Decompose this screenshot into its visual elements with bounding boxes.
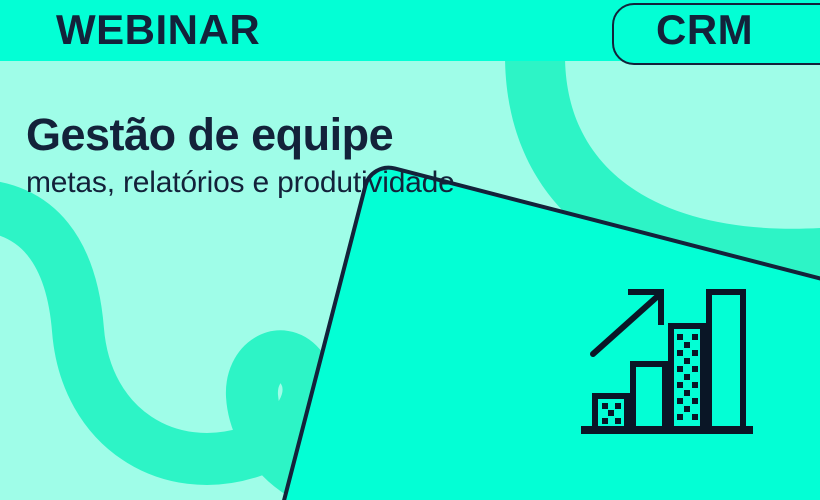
webinar-banner: WEBINAR CRM Gestão de equipe metas, rela… — [0, 0, 820, 500]
webinar-label: WEBINAR — [56, 6, 260, 54]
chart-bar-3-pattern — [677, 334, 698, 420]
page-title: Gestão de equipe — [26, 108, 455, 162]
crm-badge-label: CRM — [656, 6, 753, 54]
bar-chart-growth-icon — [575, 284, 760, 444]
page-subtitle: metas, relatórios e produtividade — [26, 164, 455, 202]
chart-bar-4 — [709, 292, 743, 430]
chart-bar-1-pattern — [602, 403, 621, 424]
chart-bar-2 — [633, 364, 665, 430]
headline-group: Gestão de equipe metas, relatórios e pro… — [26, 108, 455, 202]
up-right-arrow-icon — [593, 292, 661, 354]
